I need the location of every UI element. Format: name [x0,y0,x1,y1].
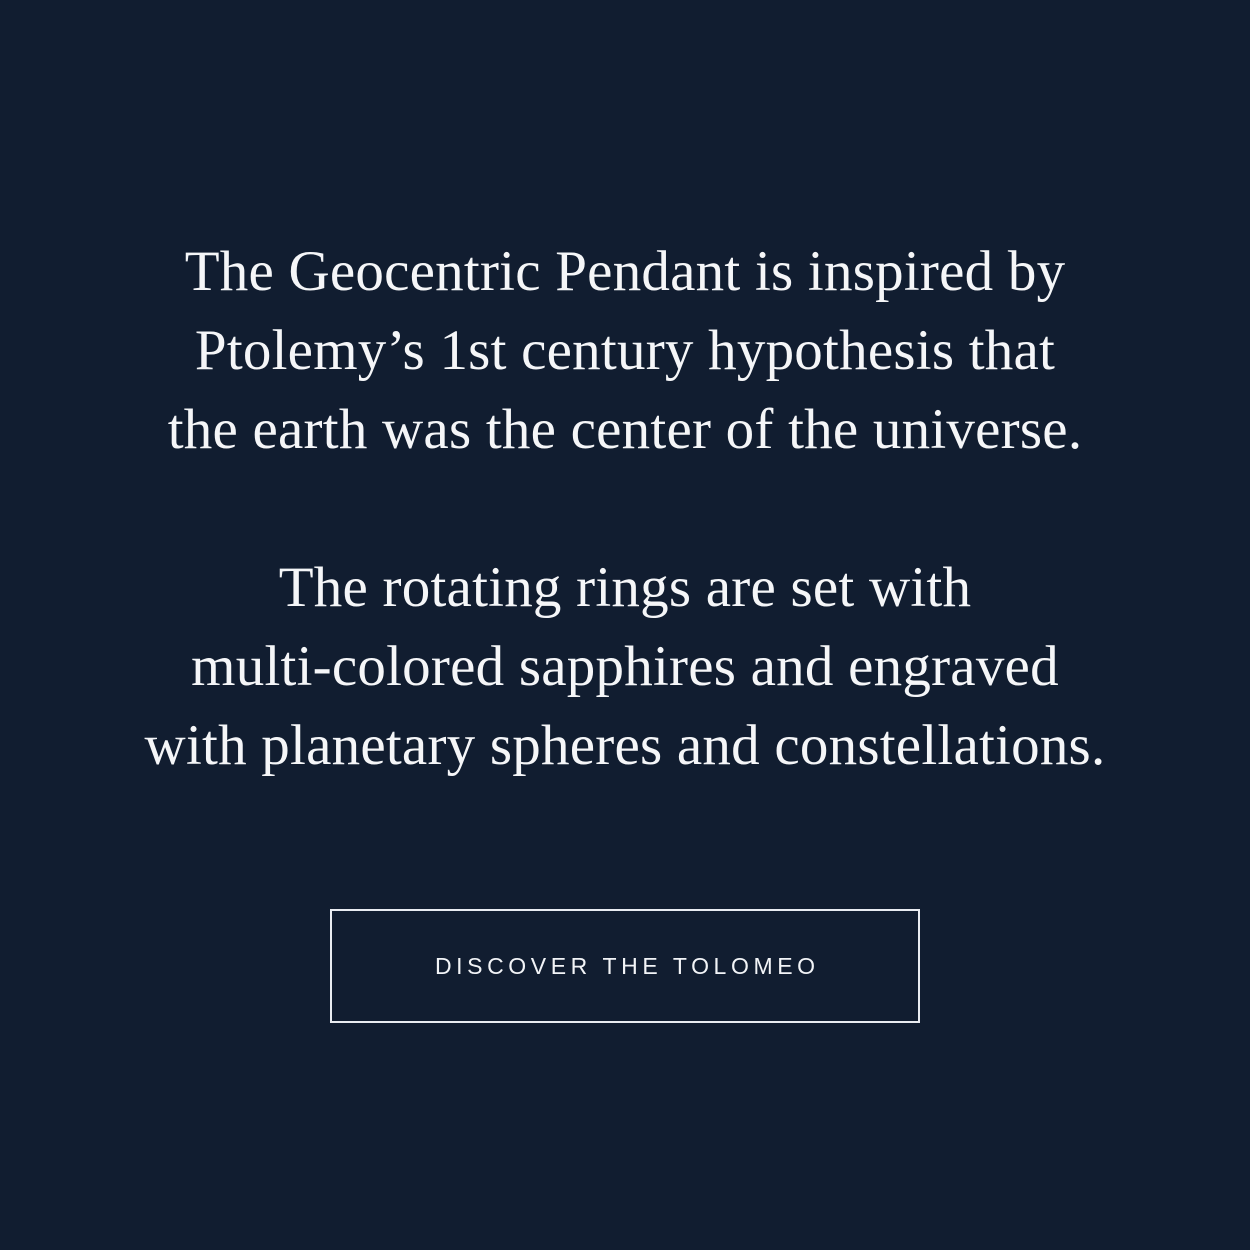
promo-paragraph-2-line-2: multi-colored sapphires and engraved [0,627,1250,706]
promo-copy-block: The Geocentric Pendant is inspired by Pt… [0,0,1250,785]
cta-container: DISCOVER THE TOLOMEO [0,909,1250,1023]
promo-paragraph-2-line-3: with planetary spheres and constellation… [0,706,1250,785]
promo-panel: The Geocentric Pendant is inspired by Pt… [0,0,1250,1250]
paragraph-spacer [0,469,1250,548]
promo-paragraph-2-line-1: The rotating rings are set with [0,548,1250,627]
discover-tolomeo-button[interactable]: DISCOVER THE TOLOMEO [330,909,920,1023]
discover-tolomeo-button-label: DISCOVER THE TOLOMEO [430,955,819,978]
promo-paragraph-2: The rotating rings are set with multi-co… [0,548,1250,785]
promo-paragraph-1: The Geocentric Pendant is inspired by Pt… [0,232,1250,469]
promo-paragraph-1-line-2: Ptolemy’s 1st century hypothesis that [0,311,1250,390]
promo-paragraph-1-line-3: the earth was the center of the universe… [0,390,1250,469]
promo-paragraph-1-line-1: The Geocentric Pendant is inspired by [0,232,1250,311]
